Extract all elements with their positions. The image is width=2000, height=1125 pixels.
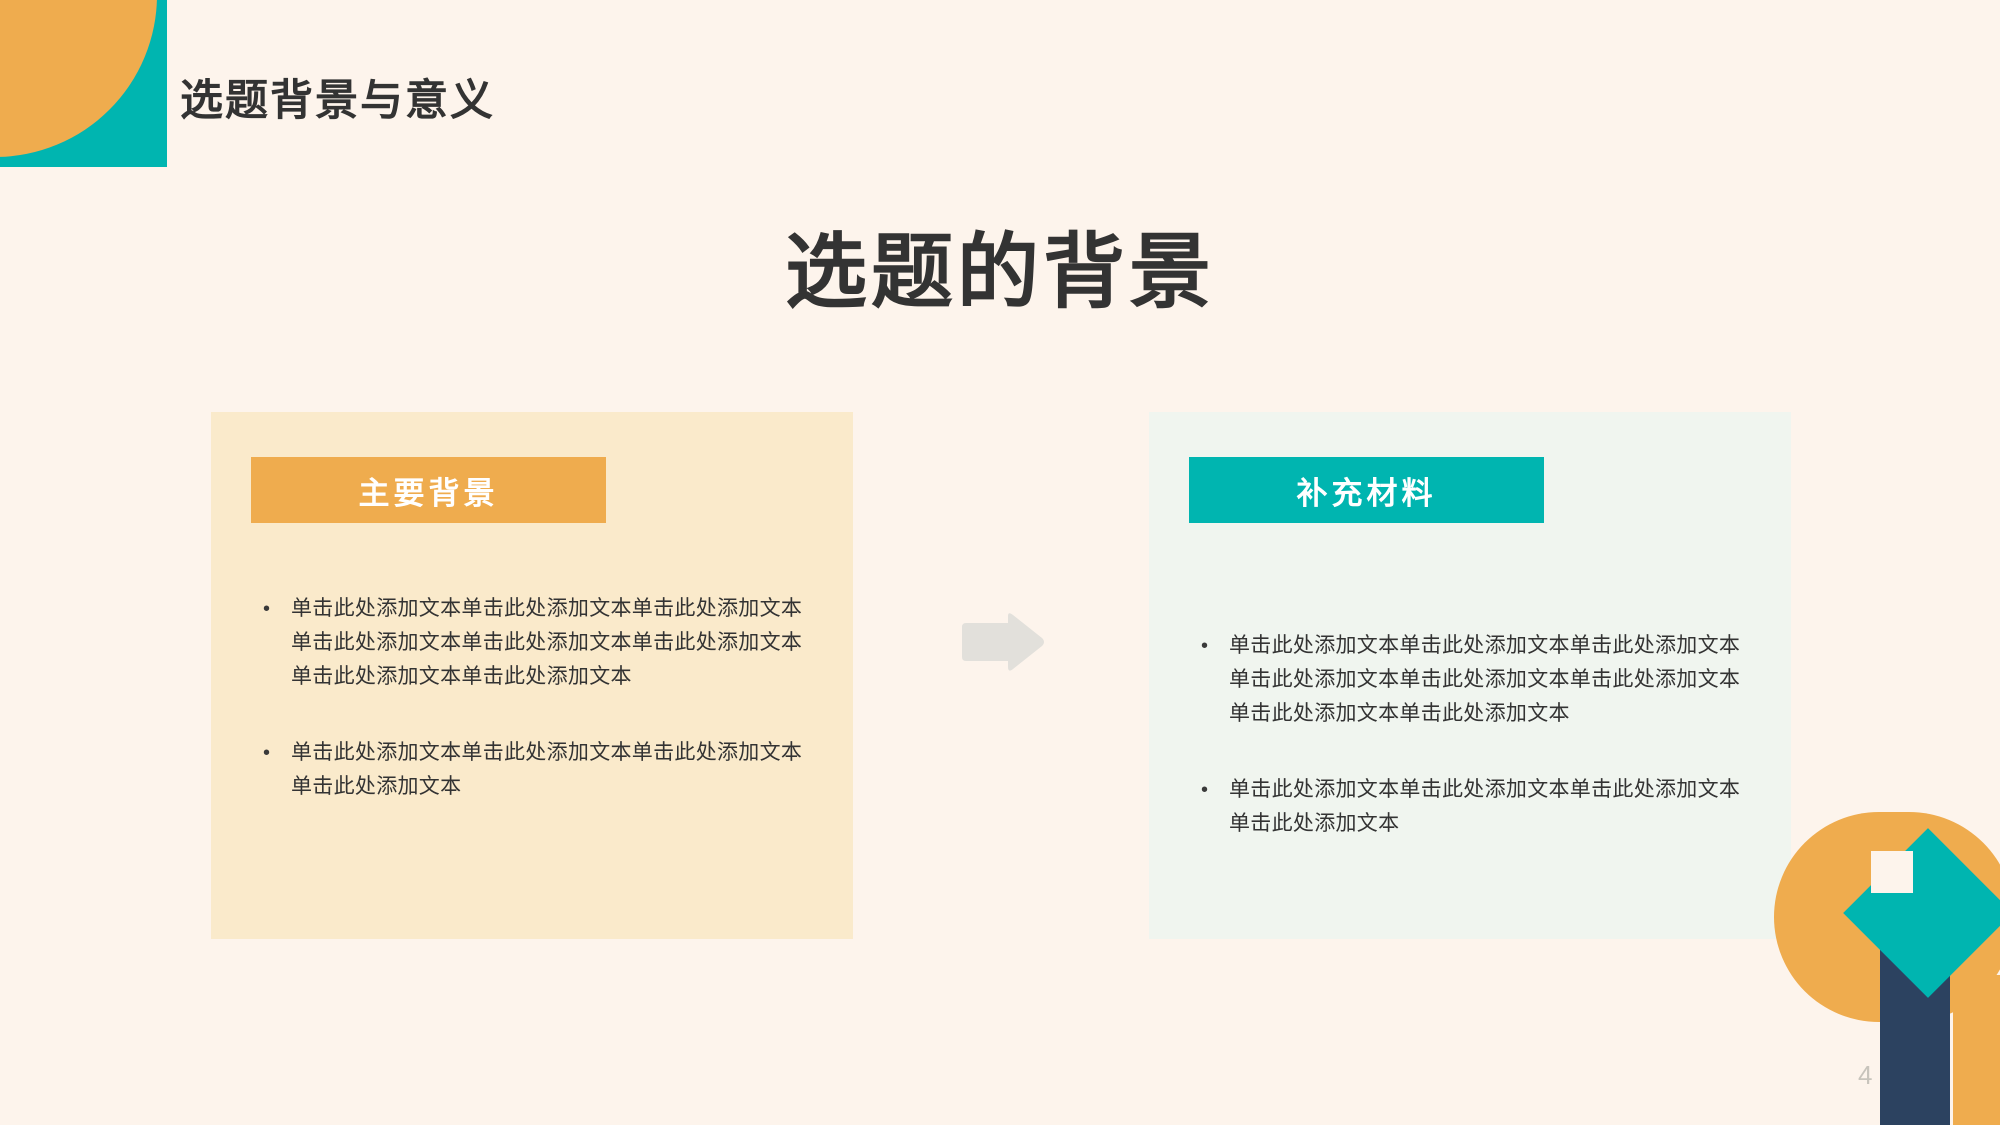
bottom-right-corner-decoration bbox=[1750, 785, 2000, 1125]
bullet-text: 单击此处添加文本单击此处添加文本单击此处添加文本单击此处添加文本 bbox=[291, 736, 823, 804]
bullet-text: 单击此处添加文本单击此处添加文本单击此处添加文本单击此处添加文本单击此处添加文本… bbox=[291, 592, 823, 694]
card-main-background: 主要背景 • 单击此处添加文本单击此处添加文本单击此处添加文本单击此处添加文本单… bbox=[211, 412, 853, 939]
list-item: • 单击此处添加文本单击此处添加文本单击此处添加文本单击此处添加文本单击此处添加… bbox=[1195, 629, 1761, 731]
list-item: • 单击此处添加文本单击此处添加文本单击此处添加文本单击此处添加文本 bbox=[257, 736, 823, 804]
bullet-dot-icon: • bbox=[257, 592, 291, 626]
page-number: 4 bbox=[1858, 1060, 1872, 1091]
section-heading: 选题背景与意义 bbox=[180, 66, 495, 128]
presentation-slide: 选题背景与意义 选题的背景 主要背景 • 单击此处添加文本单击此处添加文本单击此… bbox=[0, 0, 2000, 1125]
right-arrow-icon bbox=[958, 611, 1046, 673]
card-left-body: • 单击此处添加文本单击此处添加文本单击此处添加文本单击此处添加文本单击此处添加… bbox=[257, 592, 823, 846]
bullet-dot-icon: • bbox=[1195, 629, 1229, 663]
page-title: 选题的背景 bbox=[0, 205, 2000, 324]
orange-quarter-circle-shape bbox=[0, 0, 157, 157]
flow-arrow-container bbox=[958, 611, 1046, 673]
bullet-text: 单击此处添加文本单击此处添加文本单击此处添加文本单击此处添加文本单击此处添加文本… bbox=[1229, 629, 1761, 731]
card-right-body: • 单击此处添加文本单击此处添加文本单击此处添加文本单击此处添加文本单击此处添加… bbox=[1195, 629, 1761, 883]
white-square-shape bbox=[1871, 851, 1913, 893]
list-item: • 单击此处添加文本单击此处添加文本单击此处添加文本单击此处添加文本单击此处添加… bbox=[257, 592, 823, 694]
top-left-corner-decoration bbox=[0, 0, 167, 167]
orange-bar-shape bbox=[1953, 975, 2000, 1125]
card-left-badge: 主要背景 bbox=[251, 457, 606, 523]
list-item: • 单击此处添加文本单击此处添加文本单击此处添加文本单击此处添加文本 bbox=[1195, 773, 1761, 841]
bullet-dot-icon: • bbox=[1195, 773, 1229, 807]
card-right-badge: 补充材料 bbox=[1189, 457, 1544, 523]
card-supplementary-material: 补充材料 • 单击此处添加文本单击此处添加文本单击此处添加文本单击此处添加文本单… bbox=[1149, 412, 1791, 939]
bullet-text: 单击此处添加文本单击此处添加文本单击此处添加文本单击此处添加文本 bbox=[1229, 773, 1761, 841]
bullet-dot-icon: • bbox=[257, 736, 291, 770]
